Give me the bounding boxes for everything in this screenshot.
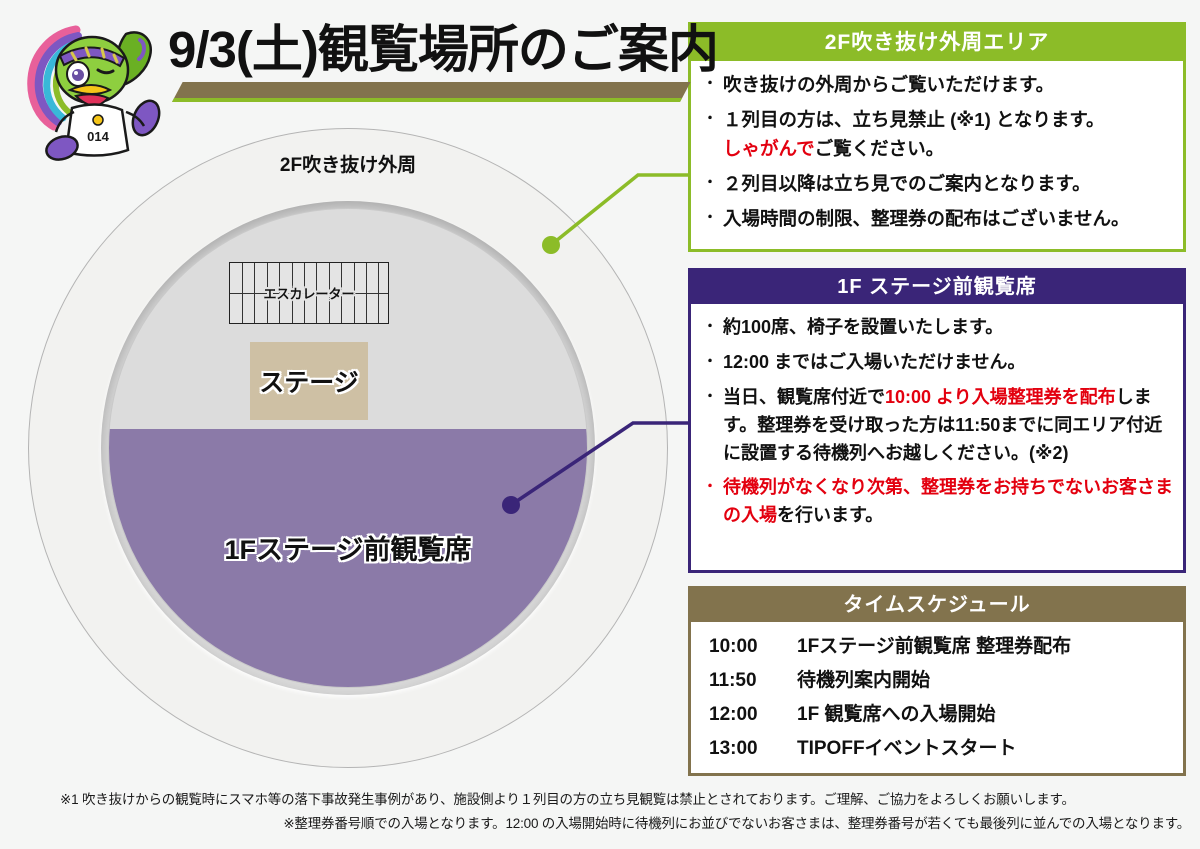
highlight-text-red: 10:00 より入場整理券を配布 [885,387,1116,407]
list-item-text: を行います。 [777,505,883,525]
panel-2f-body: ･ 吹き抜けの外周からご覧いただけます。 ･ １列目の方は、立ち見禁止 (※1)… [691,61,1183,247]
panel-time-schedule: タイムスケジュール 10:00 1Fステージ前観覧席 整理券配布 11:50 待… [688,586,1186,776]
list-item: ･ 待機列がなくなり次第、整理券をお持ちでないお客さまの入場を行います。 [697,474,1175,530]
list-item-text: ご覧ください。 [815,138,945,159]
panel-schedule-body: 10:00 1Fステージ前観覧席 整理券配布 11:50 待機列案内開始 12:… [691,622,1183,771]
page-header: 014 9/3(土)観覧場所のご案内 [0,0,690,120]
list-item-text: 約100席、椅子を設置いたします。 [723,314,1175,342]
schedule-time: 13:00 [709,738,797,760]
panel-schedule-title: タイムスケジュール [691,589,1183,622]
bullet-icon: ･ [697,107,723,131]
list-item-text: 入場時間の制限、整理券の配布はございません。 [723,206,1175,232]
venue-diagram: 2F吹き抜け外周 エスカレーター ステージ 1Fステージ前観覧席 [28,128,668,768]
schedule-time: 10:00 [709,636,797,658]
highlight-text-red: しゃがんで [723,138,815,159]
list-item: ･ 約100席、椅子を設置いたします。 [697,314,1175,342]
schedule-description: 1F 観覧席への入場開始 [797,699,995,726]
list-item-text: 12:00 まではご入場いただけません。 [723,349,1175,377]
escalator-block: エスカレーター [229,262,389,324]
bullet-icon: ･ [697,314,723,340]
list-item: ･ 当日、観覧席付近で10:00 より入場整理券を配布します。整理券を受け取った… [697,384,1175,468]
schedule-row: 13:00 TIPOFFイベントスタート [691,733,1183,760]
stage-label: ステージ [259,363,359,399]
list-item: ･ １列目の方は、立ち見禁止 (※1) となります。 [697,107,1175,133]
page-title: 9/3(土)観覧場所のご案内 [168,12,680,88]
panel-1f-stage-front-seating: 1F ステージ前観覧席 ･ 約100席、椅子を設置いたします。 ･ 12:00 … [688,268,1186,573]
schedule-description: TIPOFFイベントスタート [797,733,1017,760]
bullet-icon: ･ [697,384,723,410]
list-item-text: １列目の方は、立ち見禁止 (※1) となります。 [723,107,1175,133]
bullet-icon: ･ [697,206,723,230]
panel-2f-outer-area: 2F吹き抜け外周エリア ･ 吹き抜けの外周からご覧いただけます。 ･ １列目の方… [688,22,1186,252]
list-item: ･ 入場時間の制限、整理券の配布はございません。 [697,206,1175,232]
schedule-time: 12:00 [709,704,797,726]
list-item: ･ 12:00 まではご入場いただけません。 [697,349,1175,377]
list-item: ･ ２列目以降は立ち見でのご案内となります。 [697,171,1175,197]
footnote-1: ※1 吹き抜けからの観覧時にスマホ等の落下事故発生事例があり、施設側より１列目の… [60,788,1190,812]
stage-block: ステージ [250,342,368,420]
title-block: 9/3(土)観覧場所のご案内 [168,12,680,108]
schedule-row: 12:00 1F 観覧席への入場開始 [691,699,1183,726]
bullet-icon: ･ [697,349,723,375]
list-item-text: 吹き抜けの外周からご覧いただけます。 [723,72,1175,98]
bullet-icon: ･ [697,171,723,195]
schedule-description: 1Fステージ前観覧席 整理券配布 [797,631,1071,658]
list-item-text: 当日、観覧席付近で [723,387,885,407]
seating-zone-label: 1Fステージ前観覧席 [28,528,668,567]
footnotes: ※1 吹き抜けからの観覧時にスマホ等の落下事故発生事例があり、施設側より１列目の… [60,788,1190,835]
schedule-time: 11:50 [709,670,797,692]
panel-2f-title: 2F吹き抜け外周エリア [691,25,1183,61]
schedule-row: 10:00 1Fステージ前観覧席 整理券配布 [691,631,1183,658]
bullet-spacer [697,136,723,160]
list-item-text: ２列目以降は立ち見でのご案内となります。 [723,171,1175,197]
list-item: ･ 吹き抜けの外周からご覧いただけます。 [697,72,1175,98]
panel-1f-title: 1F ステージ前観覧席 [691,271,1183,304]
schedule-description: 待機列案内開始 [797,665,930,692]
bullet-icon: ･ [697,474,723,500]
list-item-continuation: しゃがんでご覧ください。 [697,136,1175,162]
schedule-row: 11:50 待機列案内開始 [691,665,1183,692]
panel-1f-body: ･ 約100席、椅子を設置いたします。 ･ 12:00 まではご入場いただけませ… [691,304,1183,541]
footnote-2: ※整理券番号順での入場となります。12:00 の入場開始時に待機列にお並びでない… [60,812,1190,836]
escalator-label: エスカレーター [230,284,388,303]
outer-ring-label: 2F吹き抜け外周 [28,150,668,177]
